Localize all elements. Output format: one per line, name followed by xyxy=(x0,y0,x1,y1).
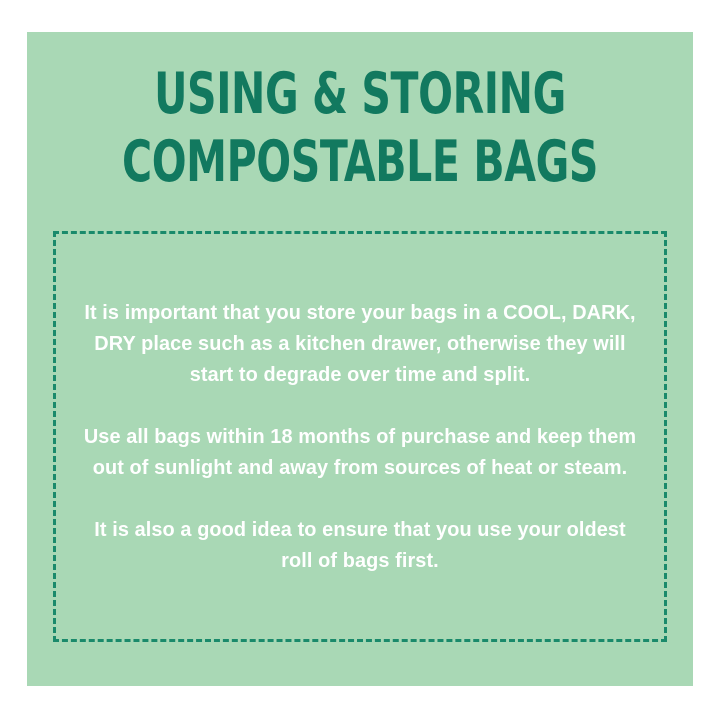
instruction-paragraph-2: Use all bags within 18 months of purchas… xyxy=(77,421,643,483)
title-line-1: USING & STORING xyxy=(94,60,627,128)
dashed-content-box: It is important that you store your bags… xyxy=(53,231,667,642)
infographic-canvas: USING & STORING COMPOSTABLE BAGS It is i… xyxy=(0,0,720,720)
instruction-paragraph-1: It is important that you store your bags… xyxy=(77,297,643,390)
instructions-text-block: It is important that you store your bags… xyxy=(56,297,664,576)
instruction-paragraph-3: It is also a good idea to ensure that yo… xyxy=(77,514,643,576)
green-card-panel: USING & STORING COMPOSTABLE BAGS It is i… xyxy=(27,32,693,686)
title-line-2: COMPOSTABLE BAGS xyxy=(94,128,627,196)
page-title: USING & STORING COMPOSTABLE BAGS xyxy=(27,60,693,196)
